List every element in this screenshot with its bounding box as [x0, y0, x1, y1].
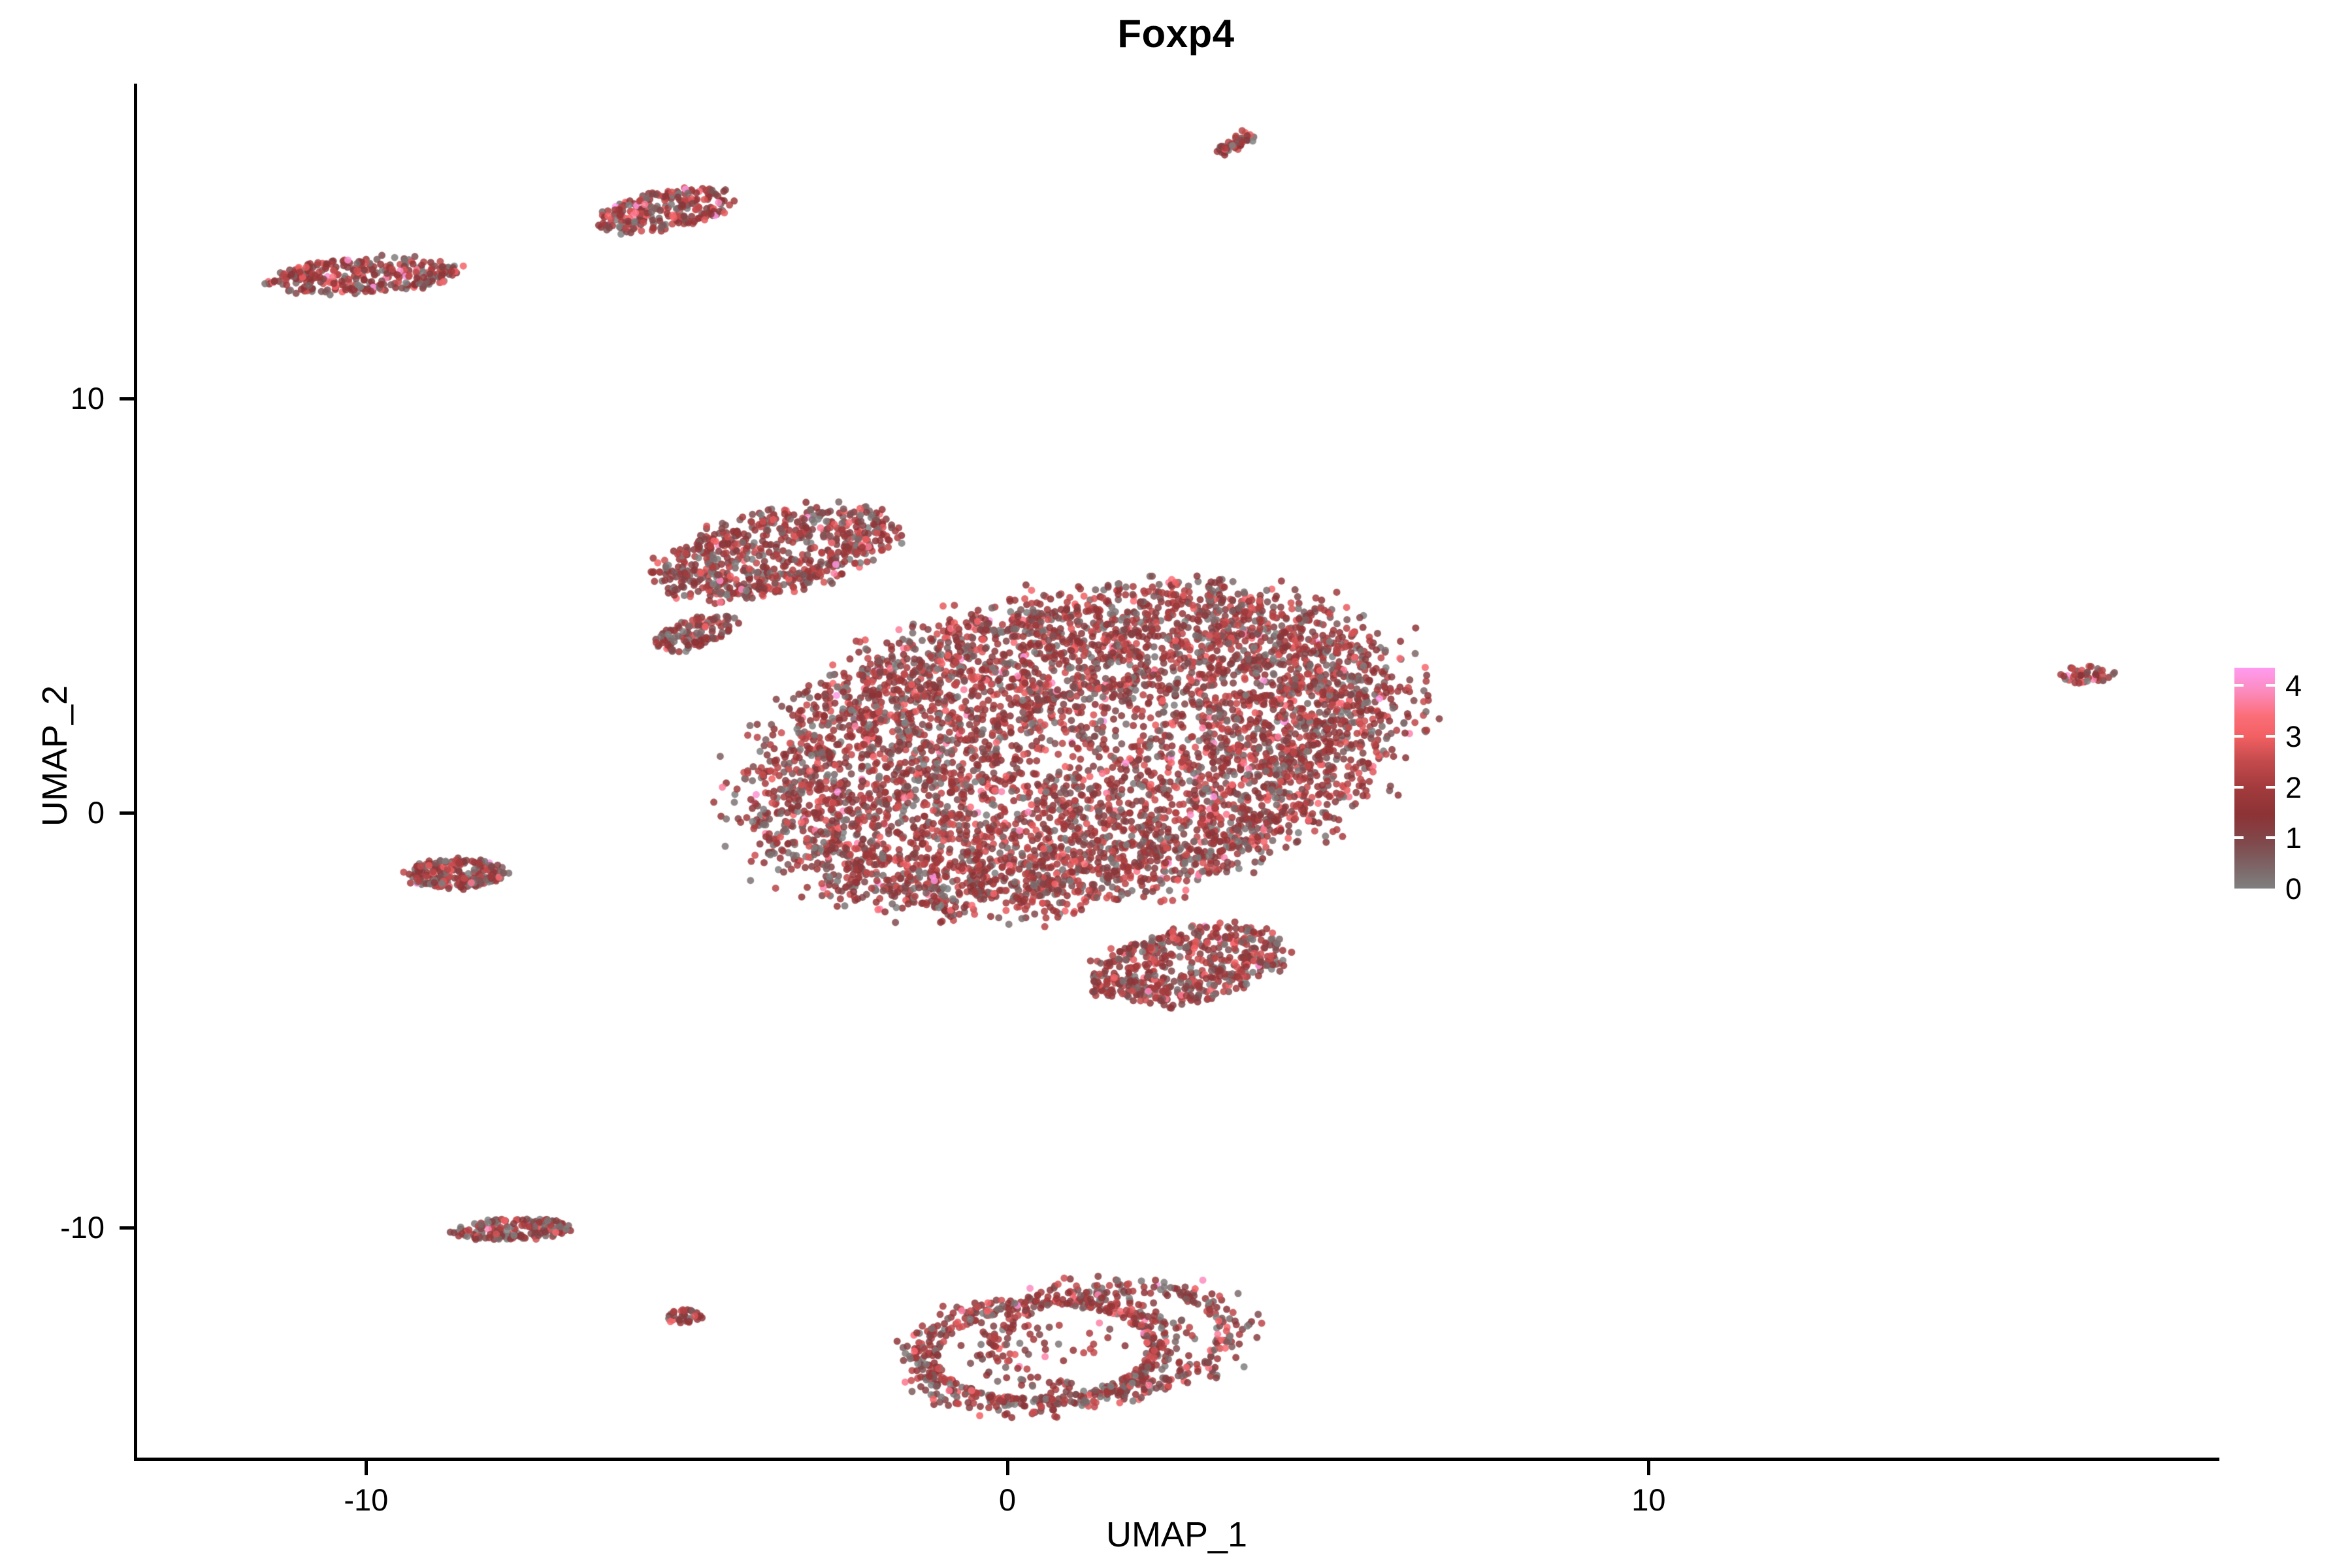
- plot-panel: [135, 84, 2219, 1460]
- colorbar-tick-label: 4: [2285, 671, 2302, 700]
- umap-feature-plot: Foxp4 -10010 -10010 UMAP_1 UMAP_2 01234: [0, 0, 2352, 1568]
- colorbar-tick-label: 2: [2285, 773, 2302, 802]
- y-tick-label: -10: [0, 1212, 105, 1243]
- page-title: Foxp4: [0, 14, 2352, 54]
- x-tick-label: -10: [301, 1484, 431, 1515]
- y-axis-title: UMAP_2: [37, 527, 73, 985]
- y-tick-mark: [120, 397, 134, 400]
- x-tick-label: 10: [1583, 1484, 1714, 1515]
- y-axis-line: [134, 84, 137, 1460]
- colorbar-tick-label: 1: [2285, 823, 2302, 853]
- x-tick-mark: [365, 1461, 368, 1475]
- y-tick-label: 10: [0, 383, 105, 414]
- y-tick-mark: [120, 811, 134, 815]
- x-tick-label: 0: [942, 1484, 1073, 1515]
- scatter-canvas: [135, 84, 2219, 1460]
- x-tick-mark: [1647, 1461, 1650, 1475]
- x-axis-line: [134, 1458, 2219, 1461]
- y-tick-mark: [120, 1226, 134, 1230]
- colorbar-gradient: [2234, 668, 2275, 889]
- colorbar-legend: 01234: [2234, 668, 2352, 903]
- x-tick-mark: [1006, 1461, 1009, 1475]
- colorbar-tick-label: 3: [2285, 722, 2302, 751]
- colorbar-tick-label: 0: [2285, 874, 2302, 904]
- x-axis-title: UMAP_1: [134, 1517, 2219, 1552]
